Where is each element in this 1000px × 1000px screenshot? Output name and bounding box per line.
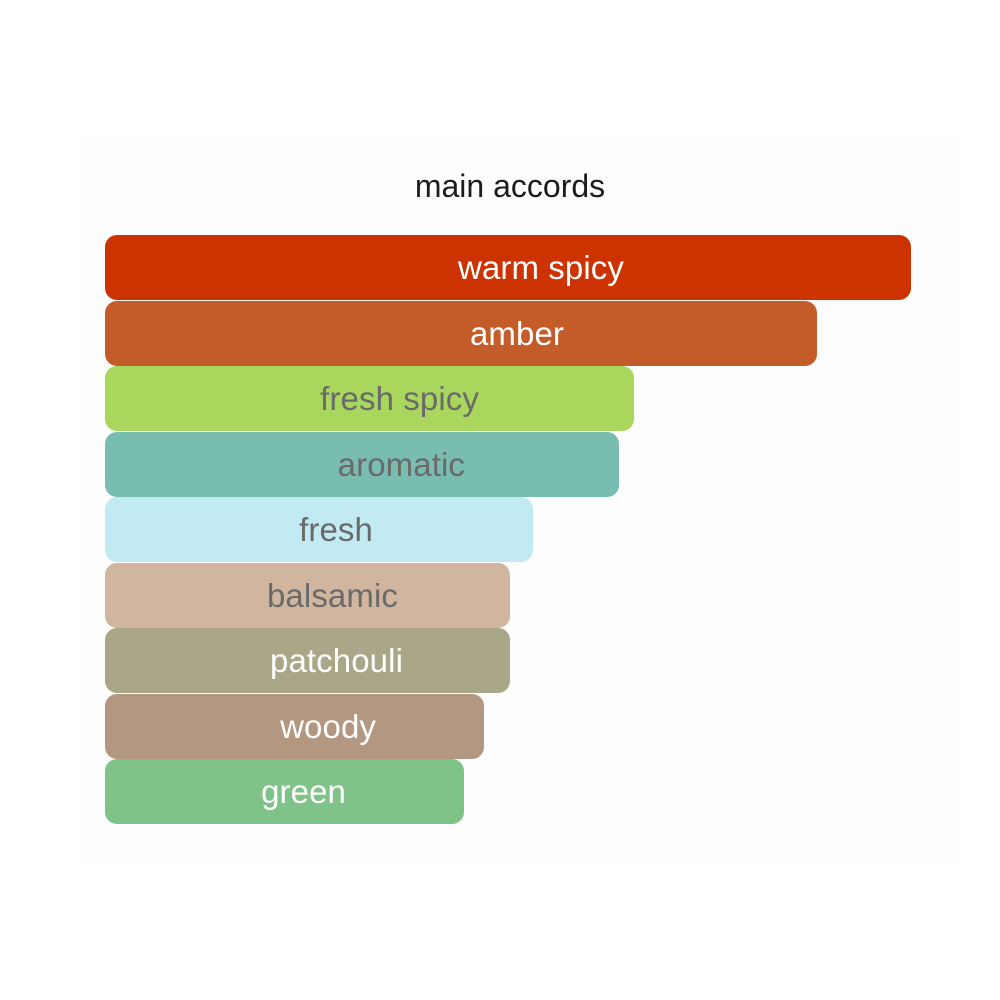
accord-bar[interactable]: green [105,759,464,824]
page-title: main accords [84,166,936,206]
accord-bar[interactable]: balsamic [105,563,510,628]
accord-bar[interactable]: fresh [105,497,533,562]
accord-bar-label: aromatic [338,448,465,481]
accord-bar[interactable]: fresh spicy [105,366,634,431]
accord-bar[interactable]: aromatic [105,432,619,497]
accord-bar-label: green [261,775,346,808]
accords-bar-chart: warm spicyamberfresh spicyaromaticfreshb… [105,235,960,825]
accord-bar-label: fresh spicy [320,382,479,415]
accord-bar[interactable]: warm spicy [105,235,911,300]
accord-bar-label: balsamic [267,579,398,612]
accord-bar-label: fresh [299,513,373,546]
main-accords-widget: main accords warm spicyamberfresh spicya… [84,138,960,865]
accord-bar[interactable]: patchouli [105,628,510,693]
accord-bar[interactable]: amber [105,301,817,366]
accord-bar-label: woody [280,710,376,743]
accord-bar-label: amber [470,317,564,350]
accord-bar-label: warm spicy [458,251,624,284]
accord-bar-label: patchouli [270,644,403,677]
accord-bar[interactable]: woody [105,694,484,759]
